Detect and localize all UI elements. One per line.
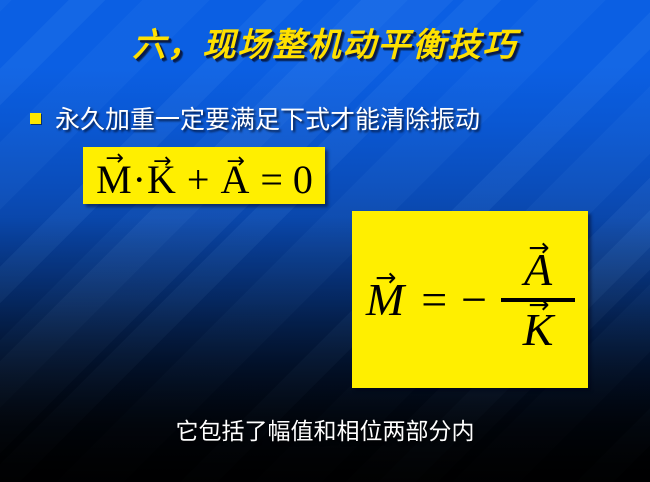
bullet-text: 永久加重一定要满足下式才能清除振动 xyxy=(55,100,480,136)
vector-a: →A xyxy=(219,160,250,200)
vector-a-numerator: →A xyxy=(523,247,553,296)
operator-minus: − xyxy=(461,277,487,323)
vector-arrow-icon: → xyxy=(528,235,549,260)
vector-m: →M xyxy=(95,160,133,200)
vector-k: →K xyxy=(146,160,177,200)
formula-1-expression: →M·→K + →A = 0 xyxy=(83,160,325,200)
vector-arrow-icon: → xyxy=(528,292,549,317)
vector-arrow-icon: → xyxy=(226,151,244,173)
vector-m: →M xyxy=(365,277,405,323)
operator-dot: · xyxy=(133,157,146,202)
square-bullet-icon xyxy=(30,113,41,124)
operator-equals: = xyxy=(421,277,447,323)
slide-caption: 它包括了幅值和相位两部分内 xyxy=(0,412,650,446)
formula-box-secondary: →M = − →A →K xyxy=(352,211,588,388)
formula-box-primary: →M·→K + →A = 0 xyxy=(83,147,325,204)
vector-k-denominator: →K xyxy=(522,304,555,353)
vector-arrow-icon: → xyxy=(153,151,171,173)
symbol-zero: 0 xyxy=(293,157,313,202)
formula-2-expression: →M = − →A →K xyxy=(352,247,588,353)
vector-arrow-icon: → xyxy=(375,265,396,290)
vector-arrow-icon: → xyxy=(105,148,123,170)
operator-equals: = xyxy=(260,157,283,202)
fraction: →A →K xyxy=(501,247,575,353)
operator-plus: + xyxy=(187,157,210,202)
slide: 六，现场整机动平衡技巧 永久加重一定要满足下式才能清除振动 →M·→K + →A… xyxy=(0,0,650,482)
slide-title: 六，现场整机动平衡技巧 xyxy=(0,18,650,66)
bullet-line: 永久加重一定要满足下式才能清除振动 xyxy=(30,100,480,136)
